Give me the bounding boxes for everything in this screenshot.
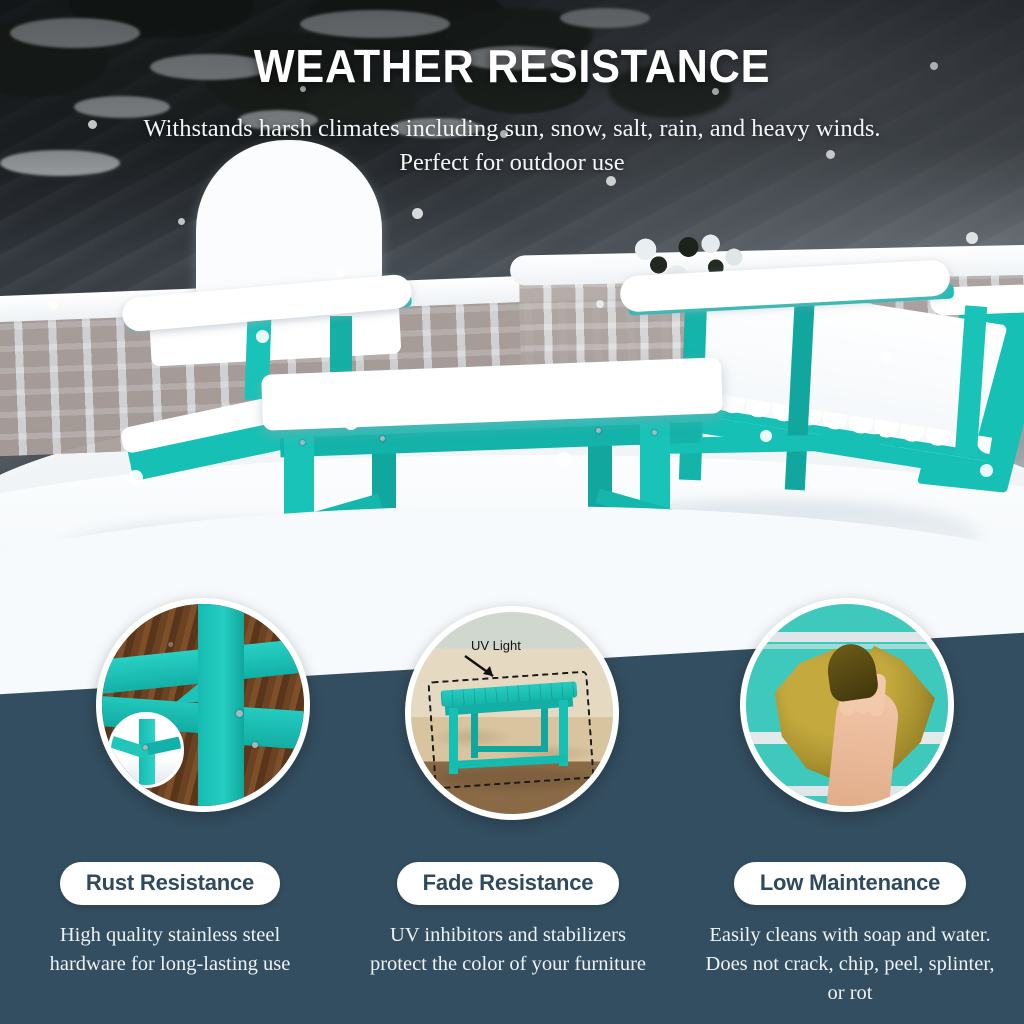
table-post (198, 598, 244, 812)
feature-image-row: UV Light (0, 598, 1024, 828)
feature-column-rust-resistance: Rust Resistance High quality stainless s… (20, 862, 320, 979)
snowflake (412, 208, 423, 219)
screw-head-icon (300, 440, 305, 445)
snowflake (48, 300, 58, 310)
snowflake (336, 268, 345, 277)
snowflake (556, 452, 572, 468)
feature-image-fade-resistance[interactable]: UV Light (405, 606, 619, 820)
uv-protection-outline (427, 671, 594, 790)
page-subtitle: Withstands harsh climates including sun,… (132, 112, 892, 180)
infographic-panel: WEATHER RESISTANCE Withstands harsh clim… (0, 0, 1024, 1024)
snowflake (344, 416, 358, 430)
feature-column-fade-resistance: Fade Resistance UV inhibitors and stabil… (358, 862, 658, 979)
stainless-screw-icon (236, 710, 243, 717)
magnified-joint-inset (108, 712, 184, 788)
feature-image-low-maintenance[interactable] (740, 598, 954, 812)
snowflake (966, 232, 978, 244)
snowflake (128, 470, 143, 485)
screw-head-icon (380, 436, 385, 441)
feature-badge-low-maintenance[interactable]: Low Maintenance (734, 862, 966, 905)
snowflake (470, 382, 479, 391)
feature-description-fade-resistance: UV inhibitors and stabilizers protect th… (368, 921, 648, 979)
feature-description-low-maintenance: Easily cleans with soap and water. Does … (700, 921, 1000, 1008)
snowflake (256, 330, 269, 343)
screw-head-icon (652, 430, 657, 435)
header: WEATHER RESISTANCE Withstands harsh clim… (0, 42, 1024, 180)
snowflake (980, 464, 993, 477)
feature-badge-rust-resistance[interactable]: Rust Resistance (60, 862, 280, 905)
screw-head-icon (596, 428, 601, 433)
stainless-screw-icon (252, 742, 258, 748)
feature-column-low-maintenance: Low Maintenance Easily cleans with soap … (690, 862, 1010, 1009)
snowflake (880, 352, 891, 363)
uv-light-arrow-icon (463, 654, 503, 682)
surface-stripe (746, 632, 948, 642)
uv-light-label: UV Light (471, 638, 521, 653)
snowflake (178, 218, 185, 225)
feature-description-rust-resistance: High quality stainless steel hardware fo… (40, 921, 300, 979)
snowflake (596, 300, 604, 308)
snowflake (650, 360, 660, 370)
stainless-screw-icon (143, 745, 148, 750)
feature-image-rust-resistance[interactable] (96, 598, 310, 812)
feature-badge-fade-resistance[interactable]: Fade Resistance (397, 862, 620, 905)
snowflake (760, 430, 772, 442)
page-title: WEATHER RESISTANCE (31, 42, 994, 90)
